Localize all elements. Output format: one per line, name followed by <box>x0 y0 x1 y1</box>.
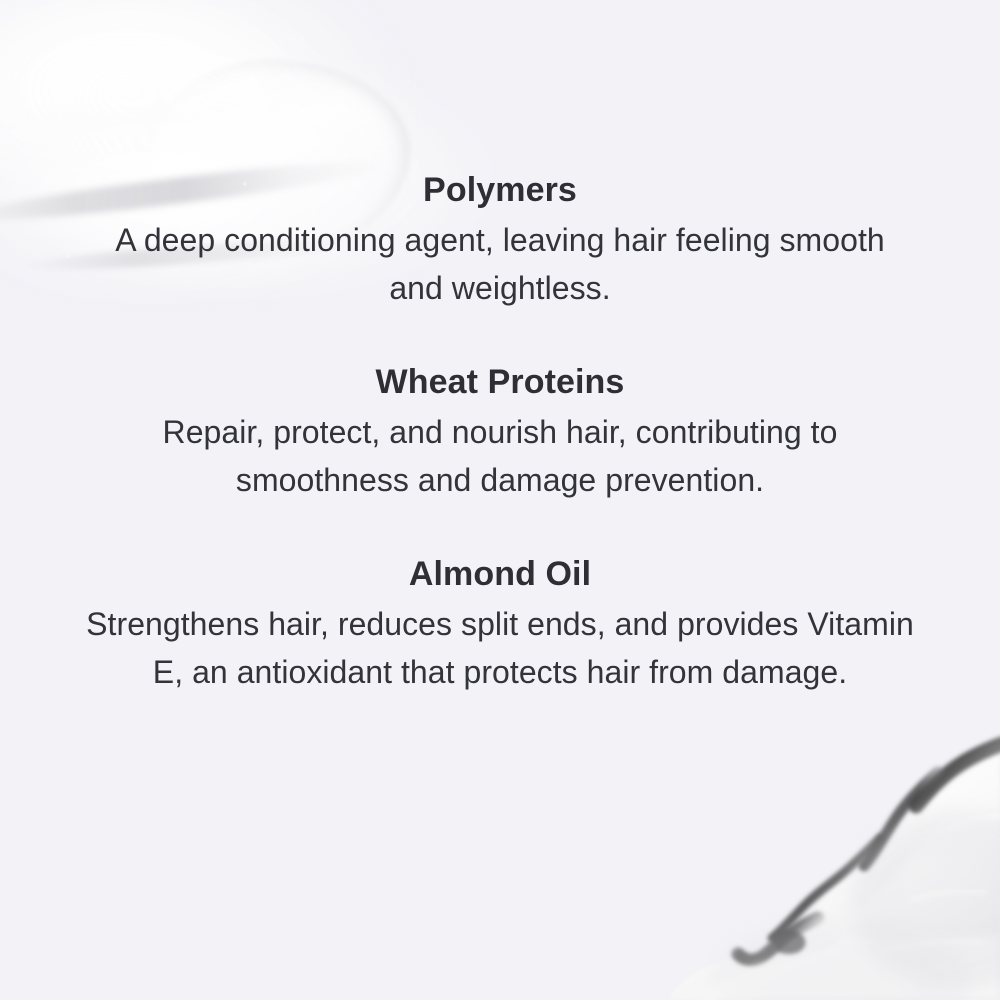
ingredient-title: Wheat Proteins <box>60 360 940 404</box>
ingredient-description: A deep conditioning agent, leaving hair … <box>85 216 915 312</box>
ingredient-title: Almond Oil <box>60 552 940 596</box>
ingredient-block-wheat-proteins: Wheat Proteins Repair, protect, and nour… <box>60 360 940 504</box>
ingredient-block-almond-oil: Almond Oil Strengthens hair, reduces spl… <box>60 552 940 696</box>
ingredient-description: Repair, protect, and nourish hair, contr… <box>85 408 915 504</box>
ingredient-block-polymers: Polymers A deep conditioning agent, leav… <box>60 168 940 312</box>
ingredient-list: Polymers A deep conditioning agent, leav… <box>0 0 1000 1000</box>
ingredient-description: Strengthens hair, reduces split ends, an… <box>85 600 915 696</box>
ingredient-benefits-card: Polymers A deep conditioning agent, leav… <box>0 0 1000 1000</box>
ingredient-title: Polymers <box>60 168 940 212</box>
